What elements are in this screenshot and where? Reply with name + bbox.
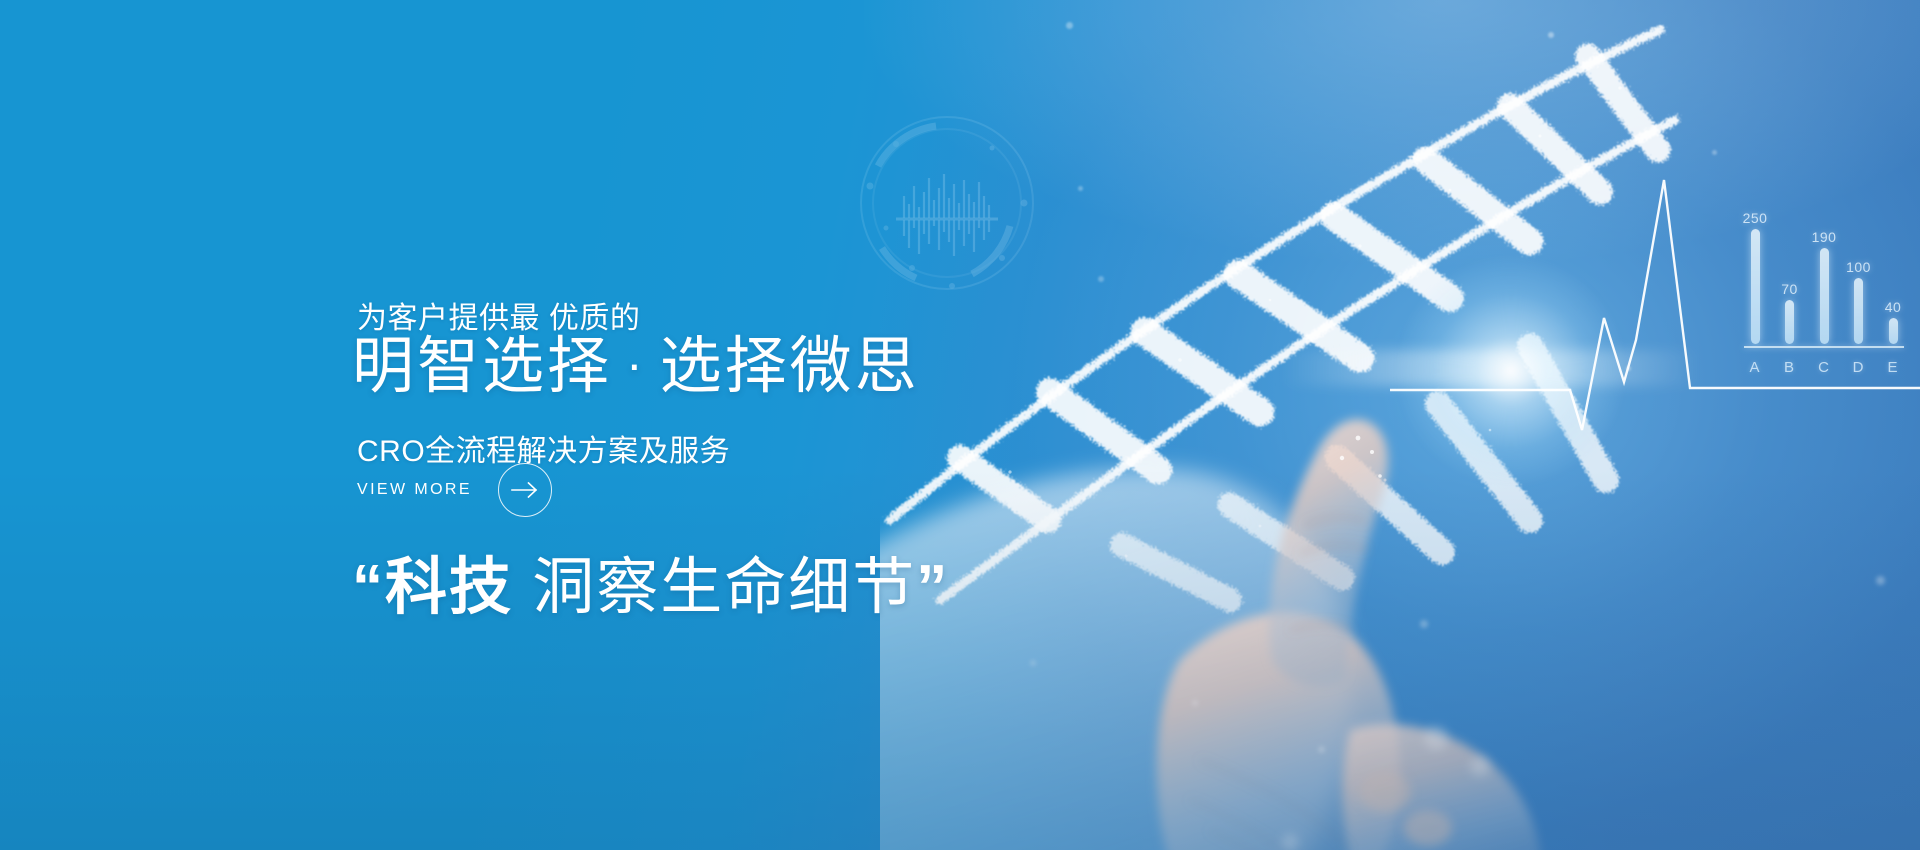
arrow-right-icon[interactable] bbox=[498, 463, 552, 517]
quote-light-text: 洞察生命细节 bbox=[513, 553, 916, 622]
hero-banner: 250 70 190 100 40 A B C bbox=[0, 0, 1920, 850]
quote-open-mark: “ bbox=[352, 553, 385, 622]
headline-separator: · bbox=[612, 336, 660, 392]
quote-strong-text: 科技 bbox=[385, 553, 513, 622]
hero-quote: “科技 洞察生命细节” bbox=[352, 554, 949, 622]
view-more-label: VIEW MORE bbox=[357, 481, 472, 499]
headline-left: 明智选择 bbox=[352, 332, 612, 401]
view-more-button[interactable]: VIEW MORE bbox=[357, 463, 552, 517]
hero-content: 为客户提供最 优质的 CRO全流程解决方案及服务 明智选择·选择微思 VIEW … bbox=[0, 0, 1000, 850]
hero-headline: 明智选择·选择微思 bbox=[352, 332, 920, 401]
quote-close-mark: ” bbox=[916, 553, 949, 622]
headline-right: 选择微思 bbox=[660, 332, 920, 401]
